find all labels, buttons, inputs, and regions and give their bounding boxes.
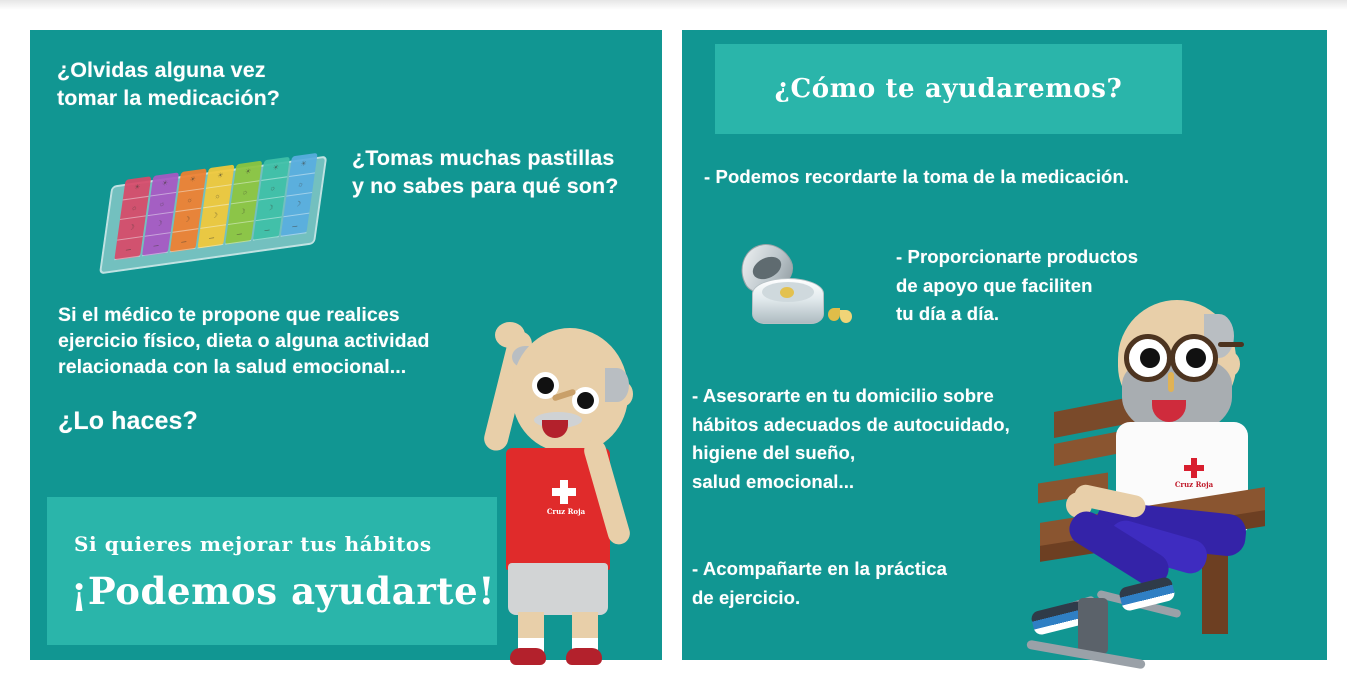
pill-fragment [840, 310, 852, 323]
browser-chrome-strip [0, 0, 1347, 10]
right-panel-header: ¿Cómo te ayudaremos? [715, 44, 1182, 134]
bullet-exercise-company: - Acompañarte en la práctica de ejercici… [692, 555, 947, 612]
nose [1168, 372, 1174, 392]
pill-splitter-image [728, 242, 848, 332]
question-many-pills: ¿Tomas muchas pastillas y no sabes para … [352, 145, 618, 201]
pill-fragment [828, 308, 840, 321]
hair-right [605, 368, 629, 402]
statement-doctor-advice: Si el médico te propone que realices eje… [58, 302, 430, 380]
pill [780, 287, 794, 298]
question-do-you-do-it: ¿Lo haces? [58, 405, 198, 438]
shoe-left [510, 648, 546, 665]
shorts [508, 563, 608, 615]
pill-organizer-image: ☀☼☽⚊ ☀☼☽⚊ ☀☼☽⚊ ☀☼☽⚊ ☀☼☽⚊ ☀☼☽⚊ ☀☼☽⚊ [91, 143, 334, 286]
standing-man-illustration: Cruz Roja [468, 320, 668, 665]
right-panel-title: ¿Cómo te ayudaremos? [775, 74, 1123, 104]
right-panel: ¿Cómo te ayudaremos? - Podemos recordart… [682, 30, 1327, 660]
shoe-right [566, 648, 602, 665]
left-panel: ¿Olvidas alguna vez tomar la medicación?… [30, 30, 662, 660]
banner-headline: ¡Podemos ayudarte! [71, 569, 495, 613]
raised-hand [495, 322, 525, 348]
call-to-action-banner: Si quieres mejorar tus hábitos ¡Podemos … [47, 497, 497, 645]
cruz-roja-logo-text: Cruz Roja [1170, 480, 1218, 489]
pupil-left [1140, 348, 1160, 368]
banner-subtitle: Si quieres mejorar tus hábitos [74, 532, 432, 556]
red-cross-logo-icon [552, 480, 576, 504]
seated-man-illustration: Cruz Roja [1022, 300, 1322, 690]
bullet-home-advice: - Asesorarte en tu domicilio sobre hábit… [692, 382, 1010, 497]
question-forget-medication: ¿Olvidas alguna vez tomar la medicación? [57, 57, 280, 113]
bullet-medication-reminder: - Podemos recordarte la toma de la medic… [704, 165, 1129, 189]
cruz-roja-logo-text: Cruz Roja [540, 507, 592, 516]
pedal-exerciser-body [1078, 598, 1108, 654]
pupil-right [1186, 348, 1206, 368]
eyeglasses-temple [1218, 342, 1244, 347]
eye-right [572, 387, 599, 414]
red-cross-logo-icon [1184, 458, 1204, 478]
